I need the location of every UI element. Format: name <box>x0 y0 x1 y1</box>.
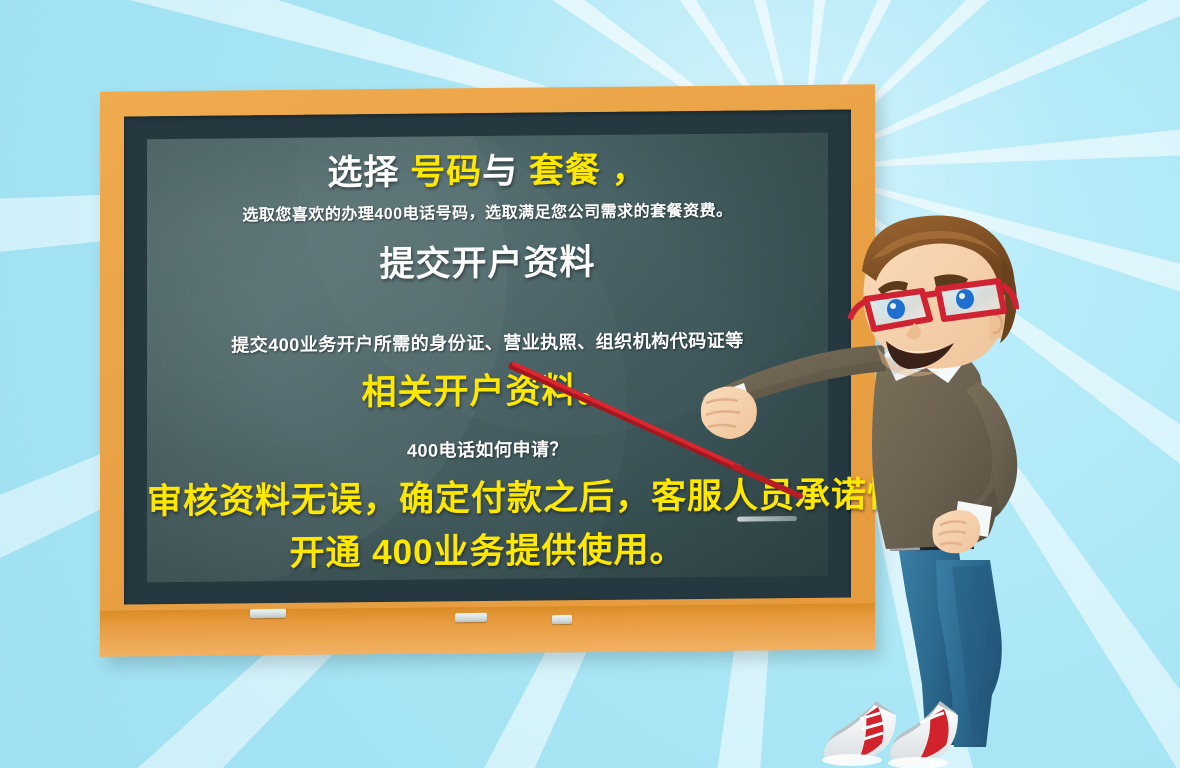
chalk-piece[interactable] <box>455 613 487 623</box>
headline-seg-3: 与 <box>482 152 529 191</box>
eye-left <box>887 299 905 319</box>
headline-seg-4: 套餐 ， <box>529 150 648 190</box>
headline-seg-1: 选择 <box>327 153 410 193</box>
eye-right <box>956 289 974 309</box>
banner-canvas: 选择 号码与 套餐 ， 选取您喜欢的办理400电话号码，选取满足您公司需求的套餐… <box>0 0 1180 768</box>
teacher-character <box>700 215 1180 768</box>
chalk-piece[interactable] <box>250 609 286 619</box>
chalk-piece[interactable] <box>552 615 572 624</box>
headline-seg-2: 号码 <box>410 152 482 192</box>
headline-choose-number-plan: 选择 号码与 套餐 ， <box>147 151 828 193</box>
sneakers <box>822 701 958 768</box>
